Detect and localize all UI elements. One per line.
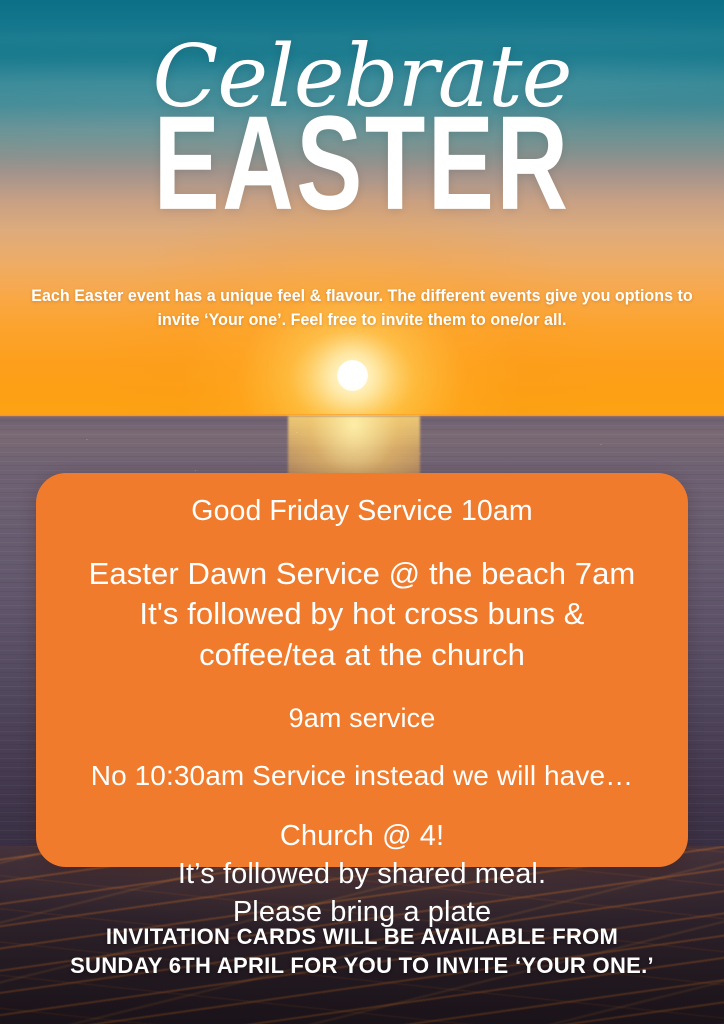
event-line: 9am service bbox=[62, 701, 662, 736]
poster-content: Celebrate EASTER Each Easter event has a… bbox=[0, 0, 724, 1024]
intro-paragraph: Each Easter event has a unique feel & fl… bbox=[24, 285, 699, 333]
footer-line-2: SUNDAY 6TH APRIL FOR YOU TO INVITE ‘YOUR… bbox=[20, 951, 704, 980]
event-line: Good Friday Service 10am bbox=[62, 493, 662, 530]
event-nine-am: 9am service bbox=[62, 701, 662, 736]
main-title-easter: EASTER bbox=[72, 102, 651, 225]
event-church-at-four: Church @ 4! It’s followed by shared meal… bbox=[62, 818, 662, 931]
headline-block: Celebrate EASTER bbox=[0, 0, 724, 216]
event-no-ten-thirty: No 10:30am Service instead we will have… bbox=[62, 758, 662, 794]
footer-line-1: INVITATION CARDS WILL BE AVAILABLE FROM bbox=[20, 922, 704, 951]
event-easter-dawn: Easter Dawn Service @ the beach 7am It's… bbox=[62, 554, 662, 675]
easter-poster: Celebrate EASTER Each Easter event has a… bbox=[0, 0, 724, 1024]
event-good-friday: Good Friday Service 10am bbox=[62, 493, 662, 530]
event-line: Church @ 4! bbox=[62, 818, 662, 856]
event-line: It's followed by hot cross buns & bbox=[62, 594, 662, 634]
event-line: coffee/tea at the church bbox=[62, 635, 662, 675]
footer-note: INVITATION CARDS WILL BE AVAILABLE FROM … bbox=[20, 922, 704, 980]
event-line: Easter Dawn Service @ the beach 7am bbox=[62, 554, 662, 594]
event-line: No 10:30am Service instead we will have… bbox=[62, 758, 662, 794]
events-card: Good Friday Service 10am Easter Dawn Ser… bbox=[36, 473, 688, 867]
event-line: It’s followed by shared meal. bbox=[62, 856, 662, 894]
